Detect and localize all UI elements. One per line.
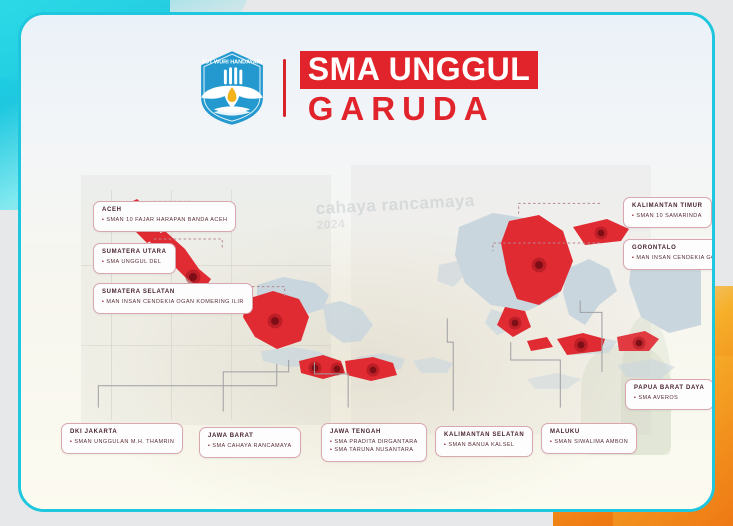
callout-gorontalo[interactable]: GORONTALO ▪MAN INSAN CENDEKIA GORONTALO	[623, 239, 715, 270]
map-landmass	[179, 195, 701, 389]
callout-maluku[interactable]: MALUKU ▪SMAN SIWALIMA AMBON	[541, 423, 637, 454]
callout-school: ▪SMAN 10 FAJAR HARAPAN BANDA ACEH	[102, 217, 227, 225]
callout-province: ACEH	[102, 207, 227, 213]
callout-sumatera-selatan[interactable]: SUMATERA SELATAN ▪MAN INSAN CENDEKIA OGA…	[93, 283, 253, 314]
map-marker-jawa-tengah	[367, 364, 380, 377]
infographic-poster: TUT WURI HANDAYANI SMA UNGGUL GARUDA	[0, 0, 733, 526]
callout-jawa-tengah[interactable]: JAWA TENGAH ▪SMA PRADITA DIRGANTARA ▪SMA…	[321, 423, 427, 462]
bullet-icon: ▪	[632, 255, 634, 261]
callout-aceh[interactable]: ACEH ▪SMAN 10 FAJAR HARAPAN BANDA ACEH	[93, 201, 236, 232]
callout-province: PAPUA BARAT DAYA	[634, 385, 705, 391]
callout-papua-barat-daya[interactable]: PAPUA BARAT DAYA ▪SMA AVEROS	[625, 379, 714, 410]
poster-card: TUT WURI HANDAYANI SMA UNGGUL GARUDA	[18, 12, 715, 512]
map-marker-kalimantan-selatan	[509, 317, 522, 330]
map-marker-sumatera-selatan	[268, 314, 283, 329]
callout-province: GORONTALO	[632, 245, 715, 251]
map-marker-jawa-barat	[331, 363, 344, 376]
bullet-icon: ▪	[102, 259, 104, 265]
callout-province: KALIMANTAN TIMUR	[632, 203, 703, 209]
callout-school: ▪SMAN BANUA KALSEL	[444, 442, 524, 450]
callout-school: ▪SMA AVEROS	[634, 395, 705, 403]
callout-province: JAWA BARAT	[208, 433, 292, 439]
callout-kalimantan-selatan[interactable]: KALIMANTAN SELATAN ▪SMAN BANUA KALSEL	[435, 426, 533, 457]
callout-school: ▪SMA PRADITA DIRGANTARA	[330, 439, 418, 447]
bullet-icon: ▪	[102, 217, 104, 223]
callout-school: ▪SMAN 10 SAMARINDA	[632, 213, 703, 221]
bullet-icon: ▪	[330, 447, 332, 453]
title-line-2: GARUDA	[300, 89, 538, 125]
callout-province: SUMATERA SELATAN	[102, 289, 244, 295]
tut-wuri-handayani-logo: TUT WURI HANDAYANI	[195, 49, 269, 127]
poster-header: TUT WURI HANDAYANI SMA UNGGUL GARUDA	[21, 33, 712, 143]
bullet-icon: ▪	[330, 439, 332, 445]
callout-kalimantan-timur[interactable]: KALIMANTAN TIMUR ▪SMAN 10 SAMARINDA	[623, 197, 712, 228]
callout-school: ▪SMA TARUNA NUSANTARA	[330, 447, 418, 455]
callout-school: ▪SMAN UNGGULAN M.H. THAMRIN	[70, 439, 174, 447]
bullet-icon: ▪	[102, 299, 104, 305]
svg-text:TUT WURI HANDAYANI: TUT WURI HANDAYANI	[202, 60, 263, 66]
bullet-icon: ▪	[444, 442, 446, 448]
callout-province: JAWA TENGAH	[330, 429, 418, 435]
header-titles: SMA UNGGUL GARUDA	[300, 51, 538, 125]
callout-school: ▪MAN INSAN CENDEKIA OGAN KOMERING ILIR	[102, 299, 244, 307]
map-marker-kalimantan-timur	[532, 258, 547, 273]
title-line-1: SMA UNGGUL	[300, 51, 538, 89]
callout-province: KALIMANTAN SELATAN	[444, 432, 524, 438]
callout-school: ▪SMA CAHAYA RANCAMAYA	[208, 443, 292, 451]
callout-province: MALUKU	[550, 429, 628, 435]
map-marker-maluku	[574, 338, 588, 352]
bullet-icon: ▪	[70, 439, 72, 445]
map-marker-dki-jakarta	[309, 362, 322, 375]
callout-province: DKI JAKARTA	[70, 429, 174, 435]
bullet-icon: ▪	[634, 395, 636, 401]
bullet-icon: ▪	[550, 439, 552, 445]
callout-dki-jakarta[interactable]: DKI JAKARTA ▪SMAN UNGGULAN M.H. THAMRIN	[61, 423, 183, 454]
callout-jawa-barat[interactable]: JAWA BARAT ▪SMA CAHAYA RANCAMAYA	[199, 427, 301, 458]
header-divider	[283, 59, 286, 117]
callout-sumatera-utara[interactable]: SUMATERA UTARA ▪SMA UNGGUL DEL	[93, 243, 176, 274]
map-marker-gorontalo	[595, 227, 608, 240]
bullet-icon: ▪	[208, 443, 210, 449]
map-marker-papua-barat-daya	[633, 337, 646, 350]
bullet-icon: ▪	[632, 213, 634, 219]
callout-province: SUMATERA UTARA	[102, 249, 167, 255]
callout-school: ▪MAN INSAN CENDEKIA GORONTALO	[632, 255, 715, 263]
callout-school: ▪SMAN SIWALIMA AMBON	[550, 439, 628, 447]
callout-school: ▪SMA UNGGUL DEL	[102, 259, 167, 267]
